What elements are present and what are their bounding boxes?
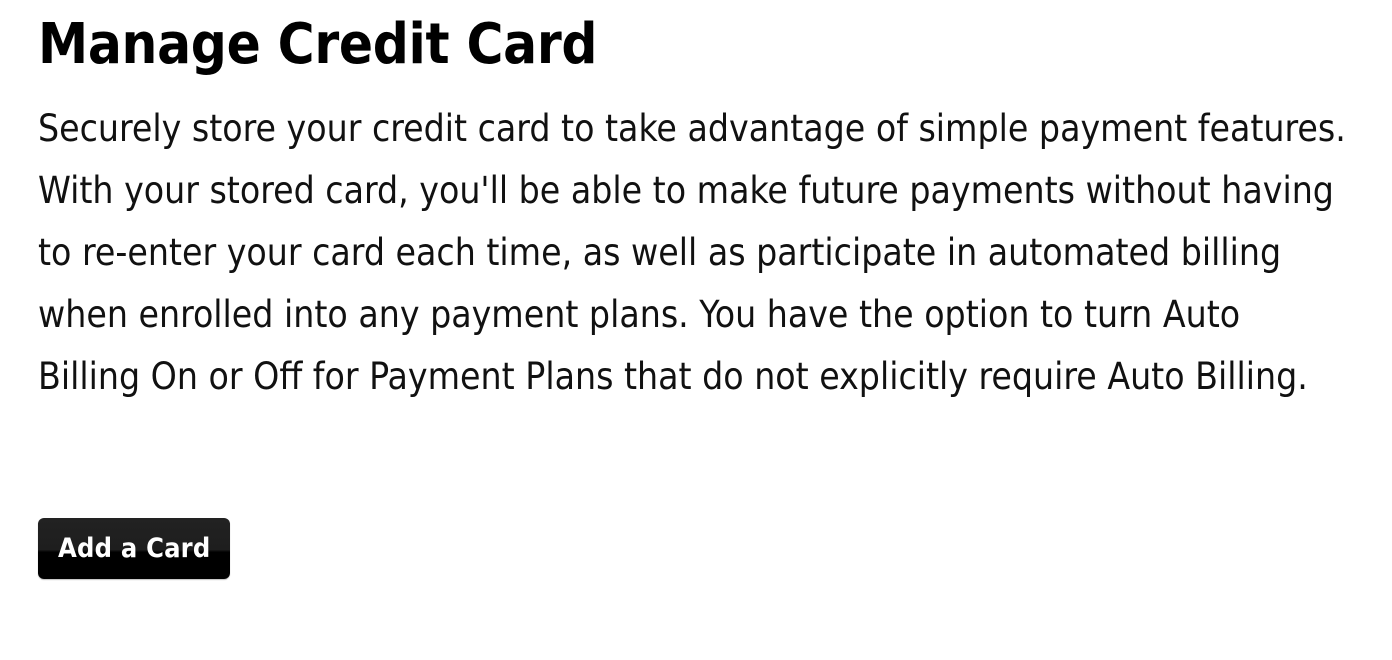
manage-credit-card-page: Manage Credit Card Securely store your c…	[0, 0, 1392, 660]
action-button-row: Add a Card	[38, 518, 230, 579]
page-title: Manage Credit Card	[38, 17, 597, 73]
description-text: Securely store your credit card to take …	[38, 98, 1350, 408]
add-a-card-button[interactable]: Add a Card	[38, 518, 230, 579]
